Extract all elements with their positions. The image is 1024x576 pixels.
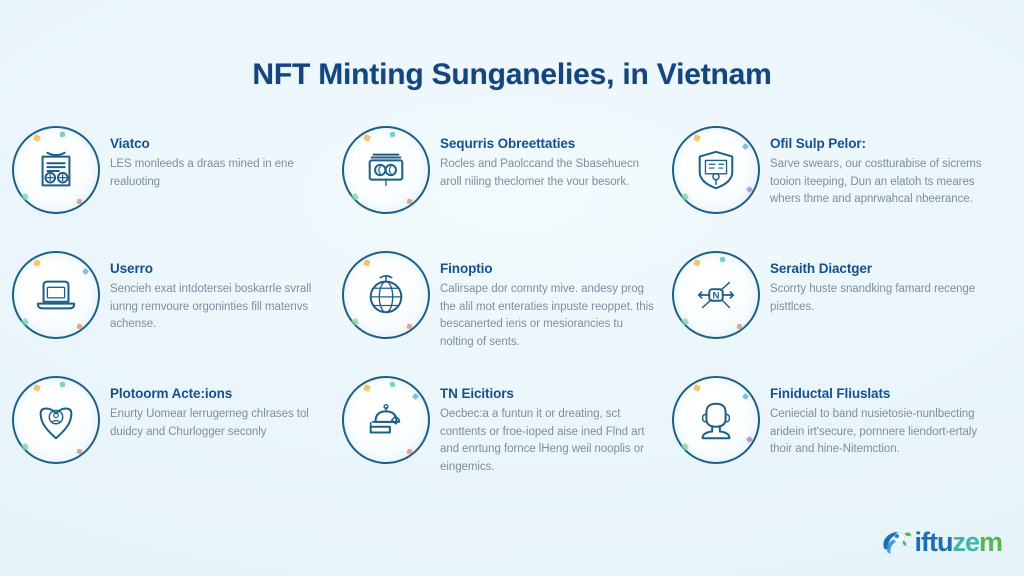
title-container: NFT Minting Sunganelies, in Vietnam	[0, 38, 1024, 112]
confetti-speck	[681, 193, 689, 201]
network-node-icon: N	[672, 251, 760, 339]
shield-document-icon	[672, 126, 760, 214]
shield-badge-icon	[12, 376, 100, 464]
card-title: Userro	[110, 261, 328, 277]
banknote-icon	[342, 126, 430, 214]
card-text-block: Plotoorm Acte:ions Enurty Uomear lerruge…	[110, 372, 328, 441]
card-title: Ofil Sulp Pelor:	[770, 136, 998, 152]
confetti-speck	[746, 186, 753, 193]
card-description: Calirsape dor comnty mive. andesy prog t…	[440, 281, 658, 351]
confetti-speck	[719, 256, 725, 262]
confetti-speck	[351, 318, 359, 326]
confetti-speck	[693, 134, 701, 142]
card-text-block: Userro Sencieh exat intdotersei boskarrl…	[110, 247, 328, 334]
svg-text:N: N	[713, 290, 720, 301]
confetti-speck	[33, 384, 41, 392]
card-text-block: Ofil Sulp Pelor: Sarve swears, our costt…	[770, 122, 998, 209]
confetti-speck	[363, 134, 371, 142]
card-title: Viatco	[110, 136, 328, 152]
confetti-speck	[363, 259, 371, 267]
card-text-block: TN Eicitiors Oecbec:a a funtun it or dre…	[440, 372, 658, 476]
feature-card[interactable]: Finoptio Calirsape dor comnty mive. ande…	[342, 247, 672, 372]
card-text-block: Viatco LES monleeds a draas mined in ene…	[110, 122, 328, 191]
card-description: Ceniecial to band nusietosie-nunlbecting…	[770, 406, 998, 458]
confetti-speck	[406, 323, 412, 329]
card-text-block: Finoptio Calirsape dor comnty mive. ande…	[440, 247, 658, 351]
confetti-speck	[76, 448, 82, 454]
feature-card[interactable]: TN Eicitiors Oecbec:a a funtun it or dre…	[342, 372, 672, 497]
confetti-speck	[412, 393, 419, 400]
brand-logo-text-b: ze	[952, 527, 979, 557]
feature-card[interactable]: Userro Sencieh exat intdotersei boskarrl…	[12, 247, 342, 372]
confetti-speck	[21, 443, 29, 451]
card-description: Enurty Uomear lerrugerneg chlrases tol d…	[110, 406, 328, 441]
confetti-speck	[681, 318, 689, 326]
brand-logo-text: iftuzem	[914, 529, 1002, 556]
certificate-document-icon	[12, 126, 100, 214]
confetti-speck	[82, 268, 89, 275]
dome-platform-icon	[342, 376, 430, 464]
confetti-speck	[693, 384, 701, 392]
confetti-speck	[746, 436, 753, 443]
feature-grid: Viatco LES monleeds a draas mined in ene…	[12, 122, 1012, 497]
confetti-speck	[351, 193, 359, 201]
confetti-speck	[389, 381, 395, 387]
confetti-speck	[76, 323, 82, 329]
confetti-speck	[33, 134, 41, 142]
feature-card[interactable]: Ofil Sulp Pelor: Sarve swears, our costt…	[672, 122, 1012, 247]
infographic-canvas: NFT Minting Sunganelies, in Vietnam	[0, 0, 1024, 576]
globe-icon	[342, 251, 430, 339]
confetti-speck	[389, 131, 395, 137]
confetti-speck	[406, 448, 412, 454]
card-description: Rocles and Paolccand the Sbasehuecn arol…	[440, 156, 658, 191]
laptop-icon	[12, 251, 100, 339]
confetti-speck	[33, 259, 41, 267]
card-title: Seraith Diactger	[770, 261, 998, 277]
confetti-speck	[736, 323, 742, 329]
brand-logo[interactable]: iftuzem	[879, 522, 1002, 562]
card-description: LES monleeds a draas mined in ene realuo…	[110, 156, 328, 191]
confetti-speck	[681, 443, 689, 451]
card-text-block: Seraith Diactger Scorrty huste snandking…	[770, 247, 998, 316]
confetti-speck	[59, 131, 65, 137]
feature-card[interactable]: Sequrris Obreettaties Rocles and Paolcca…	[342, 122, 672, 247]
confetti-speck	[742, 143, 749, 150]
confetti-speck	[742, 393, 749, 400]
confetti-speck	[693, 259, 701, 267]
card-description: Oecbec:a a funtun it or dreating, sct co…	[440, 406, 658, 476]
confetti-speck	[21, 193, 29, 201]
card-title: TN Eicitiors	[440, 386, 658, 402]
card-title: Plotoorm Acte:ions	[110, 386, 328, 402]
feature-card[interactable]: Plotoorm Acte:ions Enurty Uomear lerruge…	[12, 372, 342, 497]
card-title: Sequrris Obreettaties	[440, 136, 658, 152]
card-description: Sarve swears, our costturabise of sicrem…	[770, 156, 998, 208]
card-description: Scorrty huste snandking famard recenge p…	[770, 281, 998, 316]
feature-card[interactable]: Viatco LES monleeds a draas mined in ene…	[12, 122, 342, 247]
confetti-speck	[76, 198, 82, 204]
confetti-speck	[21, 318, 29, 326]
card-title: Finoptio	[440, 261, 658, 277]
feature-card[interactable]: Finiductal Fliuslats Ceniecial to band n…	[672, 372, 1012, 497]
page-title: NFT Minting Sunganelies, in Vietnam	[252, 58, 771, 92]
confetti-speck	[406, 198, 412, 204]
card-title: Finiductal Fliuslats	[770, 386, 998, 402]
card-text-block: Finiductal Fliuslats Ceniecial to band n…	[770, 372, 998, 459]
card-description: Sencieh exat intdotersei boskarrle svral…	[110, 281, 328, 333]
user-avatar-icon	[672, 376, 760, 464]
brand-logo-text-a: iftu	[914, 527, 952, 557]
confetti-speck	[59, 381, 65, 387]
swirl-leaf-logo-mark-icon	[879, 525, 913, 559]
card-text-block: Sequrris Obreettaties Rocles and Paolcca…	[440, 122, 658, 191]
brand-logo-text-c: m	[979, 527, 1002, 557]
feature-card[interactable]: N Seraith Diactger Scorrty huste snandki…	[672, 247, 1012, 372]
confetti-speck	[363, 384, 371, 392]
